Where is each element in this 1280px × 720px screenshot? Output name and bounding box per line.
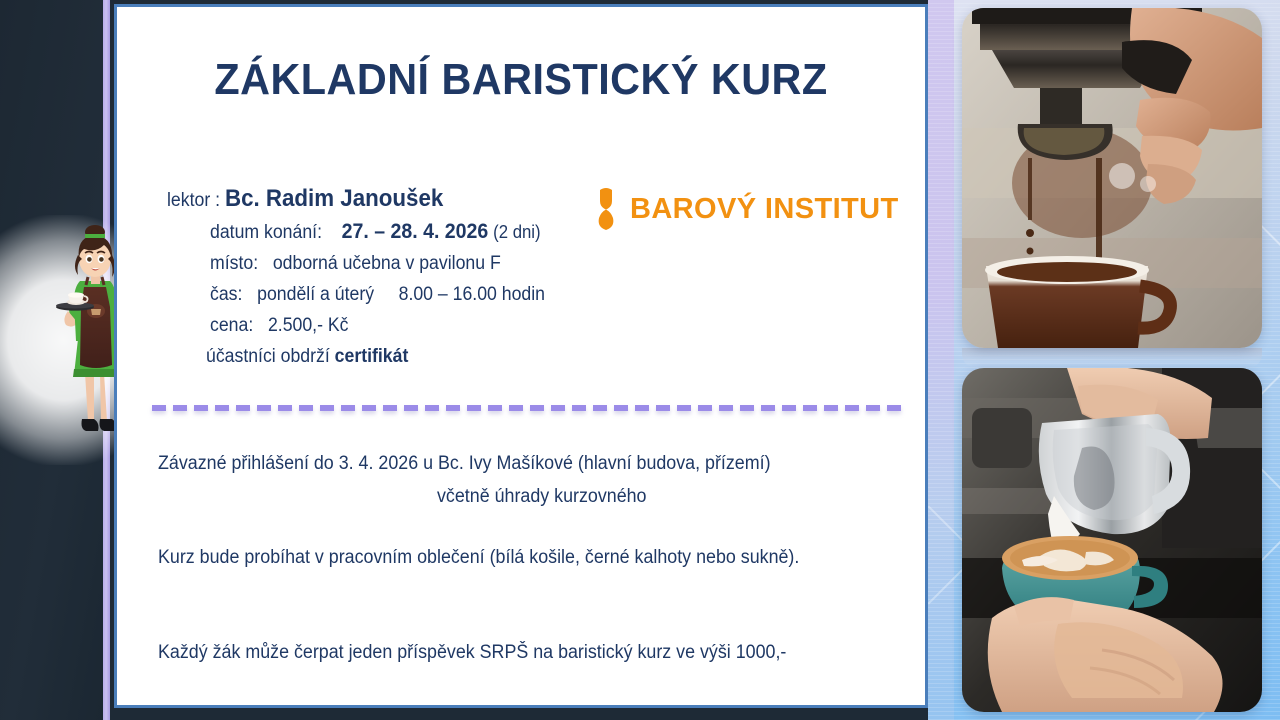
- misto-value: odborná učebna v pavilonu F: [273, 253, 501, 274]
- detail-row-certifikat: účastníci obdrží certifikát: [206, 341, 545, 372]
- latte-art-milk-pour-photo: [962, 368, 1262, 712]
- detail-row-datum: datum konání: 27. – 28. 4. 2026 (2 dni): [210, 216, 545, 248]
- lektor-name: Bc. Radim Janoušek: [225, 185, 443, 212]
- note-line-4: Každý žák může čerpat jeden příspěvek SR…: [158, 639, 786, 666]
- espresso-machine-pouring-coffee-photo: [962, 8, 1262, 348]
- barovy-institut-logo-text: BAROVÝ INSTITUT: [630, 193, 899, 226]
- lektor-label: lektor :: [167, 190, 220, 211]
- certifikat-value: certifikát: [335, 346, 409, 367]
- detail-row-misto: místo: odborná učebna v pavilonu F: [210, 248, 545, 279]
- detail-row-lektor: lektor : Bc. Radim Janoušek: [167, 183, 542, 216]
- barovy-institut-logo: BAROVÝ INSTITUT: [595, 187, 899, 232]
- certifikat-prefix: účastníci obdrží: [206, 346, 330, 367]
- detail-row-cas: čas: pondělí a úterý 8.00 – 16.00 hodin: [210, 279, 545, 310]
- dashed-divider: [152, 405, 902, 411]
- datum-note: (2 dni): [493, 222, 540, 242]
- cena-value: 2.500,- Kč: [268, 315, 349, 336]
- cas-label: čas:: [210, 284, 242, 305]
- detail-row-cena: cena: 2.500,- Kč: [210, 310, 545, 341]
- page-title: ZÁKLADNÍ BARISTICKÝ KURZ: [141, 55, 901, 105]
- cas-hours: 8.00 – 16.00 hodin: [399, 284, 545, 305]
- note-line-2: včetně úhrady kurzovného: [437, 483, 647, 510]
- photo-reflection: [962, 348, 1262, 368]
- misto-label: místo:: [210, 253, 258, 274]
- datum-label: datum konání:: [210, 222, 322, 243]
- cena-label: cena:: [210, 315, 253, 336]
- cas-days: pondělí a úterý: [257, 284, 374, 305]
- datum-value: 27. – 28. 4. 2026: [342, 220, 489, 243]
- shaker-icon: [595, 187, 617, 232]
- note-line-3: Kurz bude probíhat v pracovním oblečení …: [158, 544, 799, 571]
- slide-card: ZÁKLADNÍ BARISTICKÝ KURZ lektor : Bc. Ra…: [114, 4, 928, 708]
- course-details: lektor : Bc. Radim Janoušek datum konání…: [167, 183, 570, 372]
- note-line-1: Závazné přihlášení do 3. 4. 2026 u Bc. I…: [158, 450, 771, 477]
